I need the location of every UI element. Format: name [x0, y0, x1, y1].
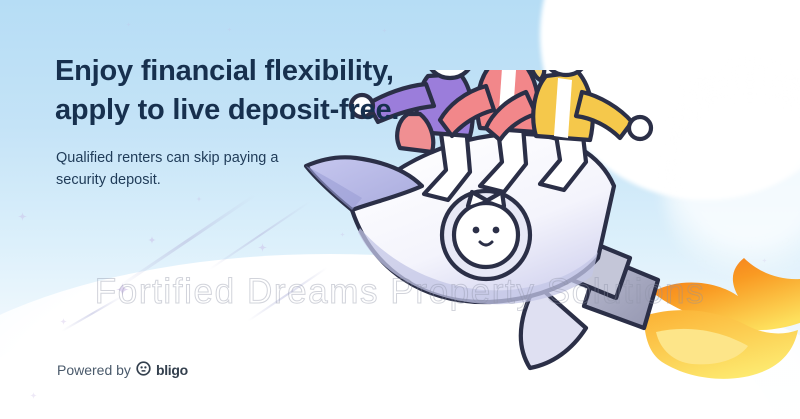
promotional-banner: Fortified Dreams Property Solutions Enjo… [0, 0, 800, 419]
sparkle-icon [30, 392, 37, 399]
rocket-porthole [442, 191, 530, 279]
sparkle-icon [148, 236, 156, 244]
page-subtitle: Qualified renters can skip paying a secu… [56, 147, 386, 191]
headline-line-1: Enjoy financial flexibility, [55, 52, 485, 91]
sparkle-icon [116, 283, 129, 296]
subhead-line-2: security deposit. [56, 169, 386, 191]
rocket-flame [644, 258, 800, 379]
rider-yellow-jacket [533, 70, 651, 140]
powered-by-credit: Powered by bligo [57, 361, 188, 379]
sparkle-icon [258, 243, 267, 252]
sparkle-icon [126, 22, 131, 27]
sparkle-icon [60, 318, 67, 325]
obligo-logo-icon [136, 361, 151, 379]
headline-line-2: apply to live deposit-free. [55, 91, 485, 130]
powered-by-label: Powered by [57, 362, 131, 378]
sparkle-icon [227, 27, 232, 32]
subhead-line-1: Qualified renters can skip paying a [56, 147, 386, 169]
page-title: Enjoy financial flexibility, apply to li… [55, 52, 485, 129]
obligo-brand-name: bligo [156, 362, 188, 378]
sparkle-icon [196, 196, 202, 202]
sparkle-icon [382, 28, 387, 33]
sparkle-icon [18, 212, 27, 221]
